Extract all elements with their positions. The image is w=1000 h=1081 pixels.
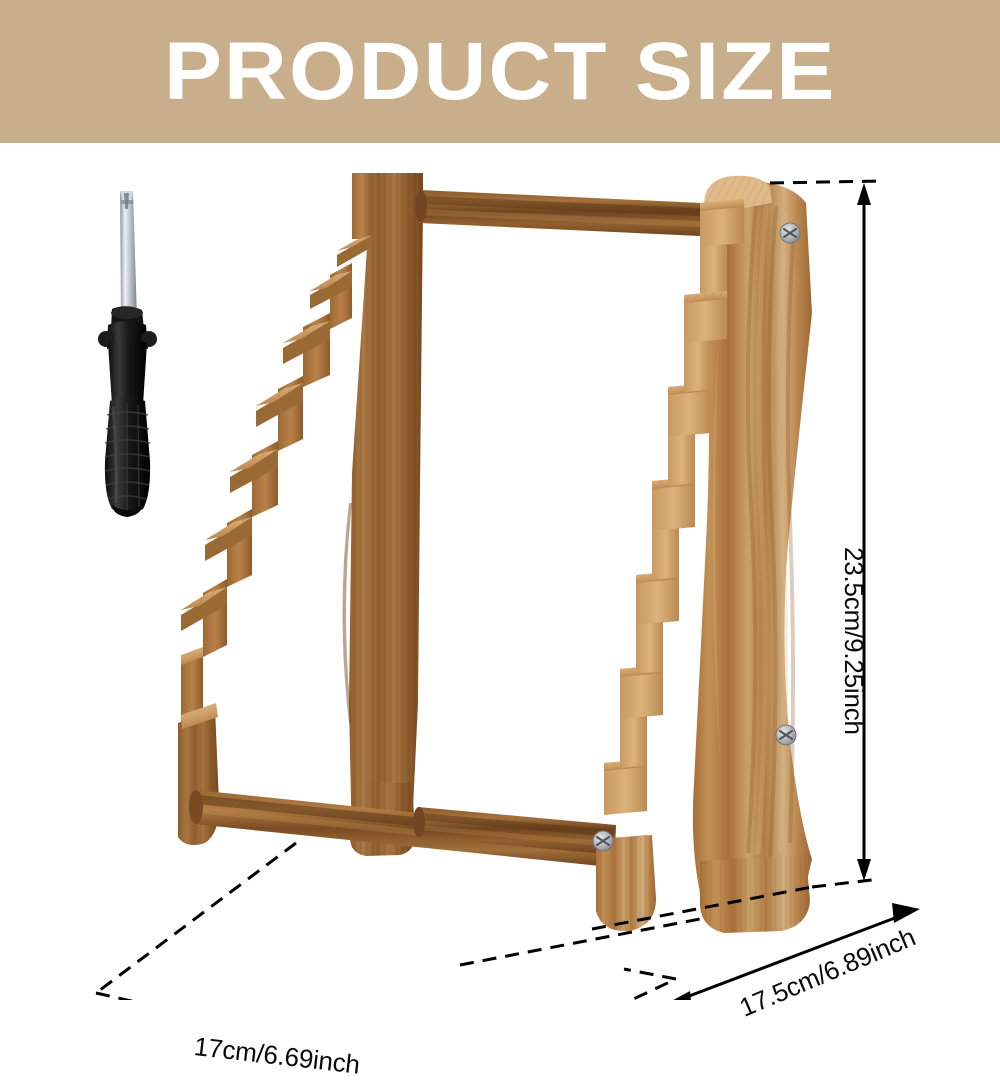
screwdriver-illustration (98, 191, 157, 517)
depth-arrow-lower-left (664, 991, 692, 1000)
product-size-infographic: PRODUCT SIZE (0, 0, 1000, 1000)
height-arrow-top (857, 183, 871, 205)
page-title: PRODUCT SIZE (164, 31, 837, 113)
depth-arrow-upper-right (892, 903, 920, 923)
extension-line-bottom-right (812, 879, 880, 887)
extension-line-left-diag (96, 843, 296, 993)
height-dimension-label: 23.5cm/9.25inch (838, 547, 869, 735)
stand-screw-foot (593, 831, 613, 851)
wooden-stand-illustration (178, 173, 812, 933)
stand-screw-top (780, 223, 800, 243)
extension-line-bottom-back (624, 969, 676, 979)
stand-screw-bottom (776, 725, 796, 745)
extension-line-top (770, 181, 880, 183)
stand-top-dowel (415, 190, 745, 238)
extension-line-bottom-front (96, 993, 468, 1000)
stand-right-panel (593, 176, 812, 933)
extension-line-depth-ground (460, 919, 700, 965)
extension-line-right-diag (468, 979, 676, 1000)
stand-left-panel (178, 173, 423, 856)
product-stage: 23.5cm/9.25inch 17cm/6.69inch 17.5cm/6.8… (0, 143, 1000, 1000)
header-banner: PRODUCT SIZE (0, 0, 1000, 143)
height-arrow-bottom (857, 859, 871, 881)
width-dimension-label: 17cm/6.69inch (192, 1031, 361, 1081)
